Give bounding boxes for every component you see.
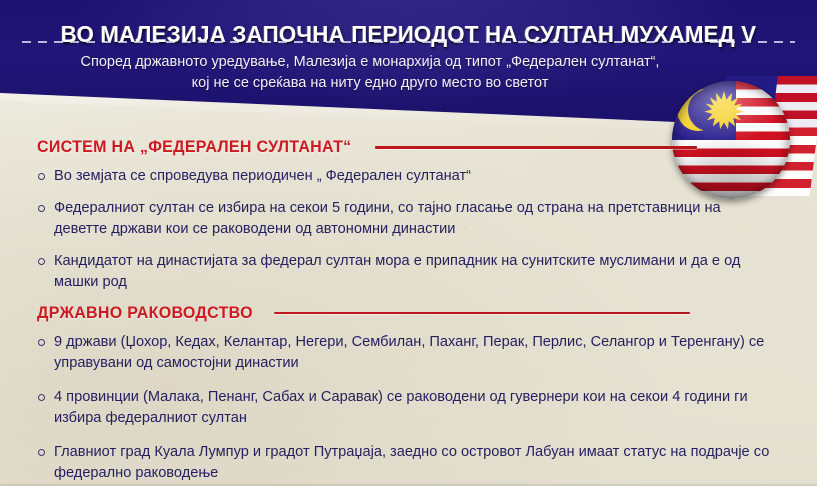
bullet-dot-icon: [38, 173, 45, 180]
section-system: СИСТЕМ НА „ФЕДЕРАЛЕН СУЛТАНАТ“ Во земјат…: [0, 138, 817, 294]
section-heading-label: СИСТЕМ НА „ФЕДЕРАЛЕН СУЛТАНАТ“: [37, 138, 351, 157]
subtitle-line-1: Според државното уредување, Малезија е м…: [70, 52, 670, 73]
list-item-text: Во земјата се спроведува периодичен „ Фе…: [54, 166, 777, 188]
list-item: Главниот град Куала Лумпур и градот Путр…: [37, 442, 777, 485]
section-leadership: ДРЖАВНО РАКОВОДСТВО 9 држави (Џохор, Кед…: [0, 304, 817, 485]
bullet-list-leadership: 9 држави (Џохор, Кедах, Келантар, Негери…: [0, 332, 817, 485]
list-item-text: Главниот град Куала Лумпур и градот Путр…: [54, 442, 777, 485]
subtitle-line-2: кој не се среќава на ниту едно друго мес…: [70, 73, 670, 94]
bullet-dot-icon: [38, 449, 45, 456]
list-item-text: Федералниот султан се избира на секои 5 …: [54, 198, 777, 241]
infographic-poster: ВО МАЛЕЗИЈА ЗАПОЧНА ПЕРИОДОТ НА СУЛТАН М…: [0, 0, 817, 486]
bullet-dot-icon: [38, 258, 45, 265]
list-item: 4 провинции (Малака, Пенанг, Сабах и Сар…: [37, 387, 777, 430]
title-dashed-rule: [22, 41, 795, 43]
content-area: СИСТЕМ НА „ФЕДЕРАЛЕН СУЛТАНАТ“ Во земјат…: [0, 128, 817, 486]
bullet-dot-icon: [38, 394, 45, 401]
subtitle: Според државното уредување, Малезија е м…: [70, 52, 670, 94]
list-item-text: 4 провинции (Малака, Пенанг, Сабах и Сар…: [54, 387, 777, 430]
section-heading-label: ДРЖАВНО РАКОВОДСТВО: [37, 304, 253, 323]
section-heading-rule: [375, 146, 697, 149]
section-heading-leadership: ДРЖАВНО РАКОВОДСТВО: [0, 304, 817, 323]
list-item: Кандидатот на династијата за федерал сул…: [37, 251, 777, 294]
page-title: ВО МАЛЕЗИЈА ЗАПОЧНА ПЕРИОДОТ НА СУЛТАН М…: [20, 21, 796, 48]
bullet-dot-icon: [38, 339, 45, 346]
list-item-text: 9 држави (Џохор, Кедах, Келантар, Негери…: [54, 332, 777, 375]
list-item: 9 држави (Џохор, Кедах, Келантар, Негери…: [37, 332, 777, 375]
section-heading-rule: [274, 312, 691, 315]
bullet-list-system: Во земјата се спроведува периодичен „ Фе…: [0, 166, 817, 294]
section-heading-system: СИСТЕМ НА „ФЕДЕРАЛЕН СУЛТАНАТ“: [0, 138, 817, 157]
list-item-text: Кандидатот на династијата за федерал сул…: [54, 251, 777, 294]
bullet-dot-icon: [38, 205, 45, 212]
list-item: Во земјата се спроведува периодичен „ Фе…: [37, 166, 777, 188]
list-item: Федералниот султан се избира на секои 5 …: [37, 198, 777, 241]
